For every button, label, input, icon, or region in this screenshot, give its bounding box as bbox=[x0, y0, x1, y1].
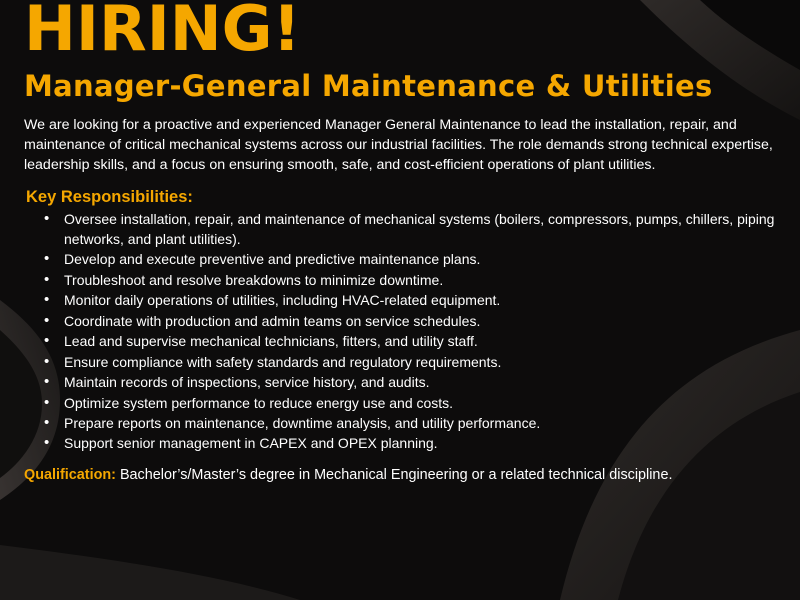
job-title: Manager-General Maintenance & Utilities bbox=[24, 69, 776, 103]
list-item: Troubleshoot and resolve breakdowns to m… bbox=[42, 270, 776, 290]
list-item: Support senior management in CAPEX and O… bbox=[42, 433, 776, 453]
list-item: Develop and execute preventive and predi… bbox=[42, 249, 776, 269]
list-item: Lead and supervise mechanical technician… bbox=[42, 331, 776, 351]
list-item: Prepare reports on maintenance, downtime… bbox=[42, 413, 776, 433]
list-item: Maintain records of inspections, service… bbox=[42, 372, 776, 392]
list-item: Ensure compliance with safety standards … bbox=[42, 352, 776, 372]
responsibilities-list: Oversee installation, repair, and mainte… bbox=[24, 209, 776, 454]
list-item: Coordinate with production and admin tea… bbox=[42, 311, 776, 331]
list-item: Monitor daily operations of utilities, i… bbox=[42, 290, 776, 310]
list-item: Oversee installation, repair, and mainte… bbox=[42, 209, 776, 250]
list-item: Optimize system performance to reduce en… bbox=[42, 393, 776, 413]
page-title: HIRING! bbox=[24, 0, 776, 59]
poster-content: HIRING! Manager-General Maintenance & Ut… bbox=[0, 0, 800, 600]
intro-paragraph: We are looking for a proactive and exper… bbox=[24, 115, 776, 175]
responsibilities-heading: Key Responsibilities: bbox=[26, 188, 776, 207]
qualification-label: Qualification: bbox=[24, 467, 116, 483]
qualification-text: Bachelor’s/Master’s degree in Mechanical… bbox=[120, 467, 673, 483]
qualification-paragraph: Qualification: Bachelor’s/Master’s degre… bbox=[24, 465, 752, 486]
